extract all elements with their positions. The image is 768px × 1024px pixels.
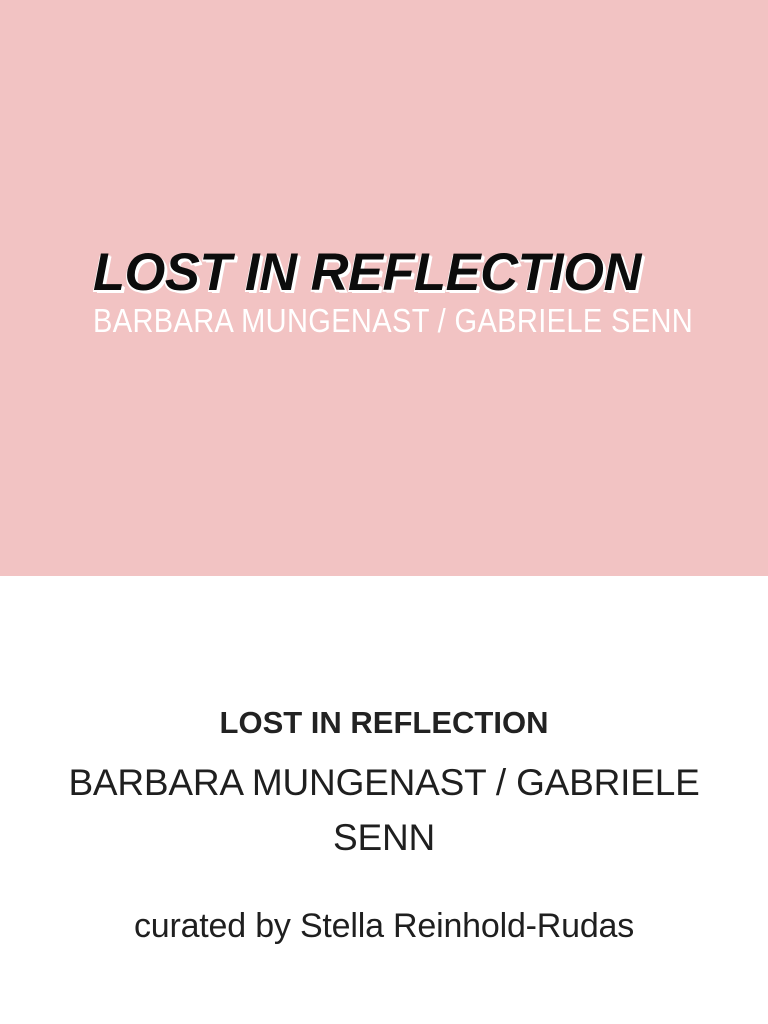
hero-subtitle-artists: BARBARA MUNGENAST / GABRIELE SENN [93, 298, 621, 337]
caption-section: LOST IN REFLECTION BARBARA MUNGENAST / G… [0, 576, 768, 1024]
hero-banner: LOST IN REFLECTION BARBARA MUNGENAST / G… [0, 0, 768, 576]
caption-title: LOST IN REFLECTION [24, 705, 744, 742]
exhibition-announcement-page: LOST IN REFLECTION BARBARA MUNGENAST / G… [0, 0, 768, 1024]
hero-title: LOST IN REFLECTION [93, 248, 687, 298]
hero-text-block: LOST IN REFLECTION BARBARA MUNGENAST / G… [93, 248, 693, 337]
caption-curator: curated by Stella Reinhold-Rudas [24, 866, 744, 948]
caption-artists: BARBARA MUNGENAST / GABRIELE SENN [24, 742, 744, 866]
caption-text-block: LOST IN REFLECTION BARBARA MUNGENAST / G… [24, 705, 744, 948]
